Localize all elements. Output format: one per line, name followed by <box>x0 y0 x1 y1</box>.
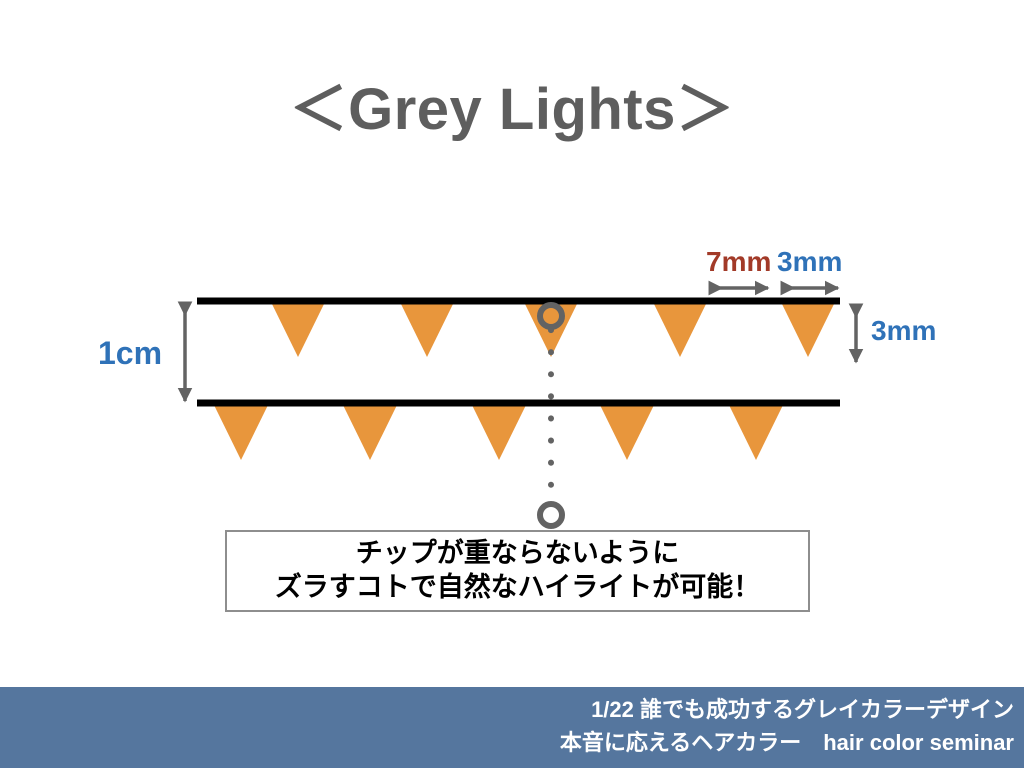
chip-bottom-2 <box>343 405 397 460</box>
callout-line-2: ズラすコトで自然なハイライトが可能！ <box>275 572 760 604</box>
chip-bottom-1 <box>214 405 268 460</box>
footer-text-block: 1/22 誰でも成功するグレイカラーデザイン 本音に応えるヘアカラー hair … <box>560 693 1014 759</box>
footer-line-1: 1/22 誰でも成功するグレイカラーデザイン <box>560 693 1014 726</box>
callout-line-1: チップが重ならないように <box>356 538 679 570</box>
dimension-label-1cm: 1cm <box>98 337 162 369</box>
dimension-label-3mm-depth: 3mm <box>871 317 936 345</box>
footer-line-2: 本音に応えるヘアカラー hair color seminar <box>560 726 1014 759</box>
chip-top-4 <box>653 302 707 357</box>
chip-bottom-3 <box>472 405 526 460</box>
chip-top-2 <box>400 302 454 357</box>
chip-bottom-4 <box>600 405 654 460</box>
dimension-label-3mm-width: 3mm <box>777 248 842 276</box>
callout-box: チップが重ならないように ズラすコトで自然なハイライトが可能！ <box>225 530 810 612</box>
slide-canvas: ＜Grey Lights＞ <box>0 0 1024 768</box>
chip-row-bottom <box>214 405 783 460</box>
chip-top-5 <box>781 302 835 357</box>
chip-bottom-5 <box>729 405 783 460</box>
dimension-label-7mm: 7mm <box>706 248 771 276</box>
footer-bar: 1/22 誰でも成功するグレイカラーデザイン 本音に応えるヘアカラー hair … <box>0 687 1024 768</box>
connector-marker-bottom <box>540 504 562 526</box>
chip-top-1 <box>271 302 325 357</box>
